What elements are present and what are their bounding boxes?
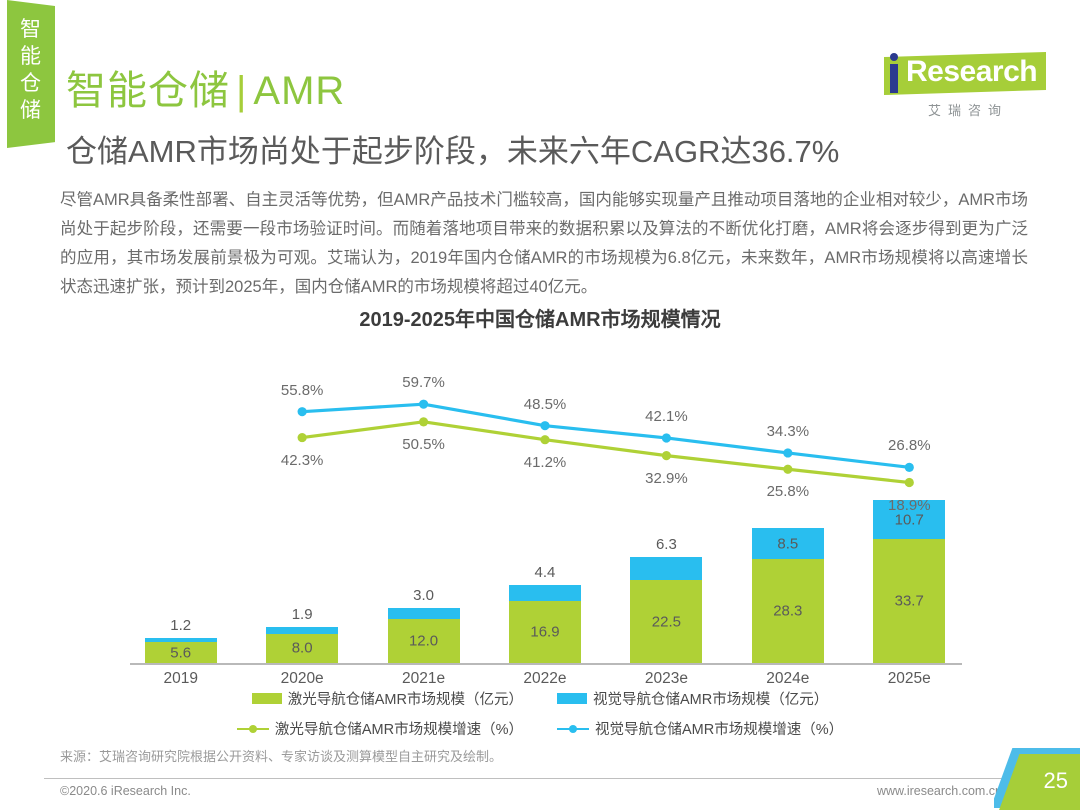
- legend-item-vision-growth[interactable]: 视觉导航仓储AMR市场规模增速（%）: [557, 718, 843, 739]
- line-label-vision: 42.1%: [645, 408, 688, 425]
- legend-row-bars: 激光导航仓储AMR市场规模（亿元） 视觉导航仓储AMR市场规模（亿元）: [0, 688, 1080, 709]
- chart-source-note: 来源：艾瑞咨询研究院根据公开资料、专家访谈及测算模型自主研究及绘制。: [60, 746, 502, 765]
- chart-lines: [120, 335, 970, 665]
- x-axis-label: 2019: [120, 670, 241, 688]
- slide-page: 智 能 仓 储 Research 艾瑞咨询 智能仓储|AMR 仓储AMR市场尚处…: [0, 0, 1080, 810]
- line-label-laser: 25.8%: [767, 483, 810, 500]
- legend-label-vision-size: 视觉导航仓储AMR市场规模（亿元）: [593, 688, 828, 709]
- x-axis-label: 2024e: [727, 670, 848, 688]
- line-vision-marker: [419, 400, 428, 409]
- legend-item-laser-growth[interactable]: 激光导航仓储AMR市场规模增速（%）: [237, 718, 523, 739]
- page-title-main: 智能仓储: [66, 69, 230, 113]
- x-axis-label: 2025e: [849, 670, 970, 688]
- section-tab-char-1: 能: [7, 43, 55, 70]
- footer-website: www.iresearch.com.cn: [877, 784, 1002, 798]
- x-axis-label: 2020e: [241, 670, 362, 688]
- footer-copyright: ©2020.6 iResearch Inc.: [60, 784, 191, 798]
- legend-item-laser-size[interactable]: 激光导航仓储AMR市场规模（亿元）: [252, 688, 523, 709]
- line-label-laser: 42.3%: [281, 452, 324, 469]
- line-vision-path: [302, 404, 909, 467]
- logo-wordmark: Research: [906, 55, 1037, 89]
- x-axis-label: 2022e: [484, 670, 605, 688]
- section-tab-smart-warehouse: 智 能 仓 储: [7, 0, 55, 148]
- legend-line-blue-icon: [557, 723, 589, 735]
- x-axis-label: 2021e: [363, 670, 484, 688]
- line-laser-marker: [419, 417, 428, 426]
- chart-legend: 激光导航仓储AMR市场规模（亿元） 视觉导航仓储AMR市场规模（亿元） 激光导航…: [0, 688, 1080, 748]
- line-vision-marker: [298, 407, 307, 416]
- line-label-laser: 50.5%: [402, 436, 445, 453]
- page-subtitle: 仓储AMR市场尚处于起步阶段，未来六年CAGR达36.7%: [66, 126, 839, 171]
- logo-chinese-name: 艾瑞咨询: [890, 100, 1046, 119]
- logo-i-dot-icon: [890, 53, 898, 61]
- iresearch-logo: Research 艾瑞咨询: [850, 50, 1046, 126]
- logo-i-stem-icon: [890, 64, 898, 93]
- line-label-vision: 26.8%: [888, 437, 931, 454]
- line-vision-marker: [783, 448, 792, 457]
- chart: 1.25.61.98.03.012.04.416.96.322.58.528.3…: [120, 335, 970, 665]
- line-label-laser: 18.9%: [888, 497, 931, 514]
- legend-line-green-icon: [237, 723, 269, 735]
- page-title-divider: |: [230, 69, 253, 113]
- section-tab-char-0: 智: [7, 16, 55, 43]
- line-vision-marker: [905, 463, 914, 472]
- section-tab-char-3: 储: [7, 97, 55, 124]
- line-label-vision: 59.7%: [402, 374, 445, 391]
- line-laser-marker: [662, 451, 671, 460]
- page-title: 智能仓储|AMR: [66, 58, 345, 116]
- line-label-vision: 34.3%: [767, 423, 810, 440]
- legend-label-laser-growth: 激光导航仓储AMR市场规模增速（%）: [275, 718, 523, 739]
- line-label-laser: 41.2%: [524, 454, 567, 471]
- legend-label-laser-size: 激光导航仓储AMR市场规模（亿元）: [288, 688, 523, 709]
- logo-mark: Research: [850, 50, 1046, 100]
- line-label-laser: 32.9%: [645, 470, 688, 487]
- section-tab-char-2: 仓: [7, 70, 55, 97]
- legend-item-vision-size[interactable]: 视觉导航仓储AMR市场规模（亿元）: [557, 688, 828, 709]
- line-laser-marker: [905, 478, 914, 487]
- line-laser-marker: [298, 433, 307, 442]
- line-label-vision: 55.8%: [281, 382, 324, 399]
- legend-swatch-green-icon: [252, 693, 282, 704]
- page-title-sub: AMR: [253, 69, 345, 113]
- line-laser-marker: [783, 465, 792, 474]
- body-paragraph: 尽管AMR具备柔性部署、自主灵活等优势，但AMR产品技术门槛较高，国内能够实现量…: [60, 186, 1028, 302]
- chart-title: 2019-2025年中国仓储AMR市场规模情况: [0, 303, 1080, 332]
- x-axis-label: 2023e: [606, 670, 727, 688]
- line-vision-marker: [662, 433, 671, 442]
- page-number: 25: [1044, 768, 1068, 794]
- line-laser-marker: [540, 435, 549, 444]
- footer-divider: [44, 778, 1036, 779]
- legend-row-lines: 激光导航仓储AMR市场规模增速（%） 视觉导航仓储AMR市场规模增速（%）: [0, 718, 1080, 739]
- chart-x-labels: 20192020e2021e2022e2023e2024e2025e: [120, 670, 970, 688]
- legend-swatch-blue-icon: [557, 693, 587, 704]
- line-vision-marker: [540, 421, 549, 430]
- line-label-vision: 48.5%: [524, 396, 567, 413]
- legend-label-vision-growth: 视觉导航仓储AMR市场规模增速（%）: [595, 718, 843, 739]
